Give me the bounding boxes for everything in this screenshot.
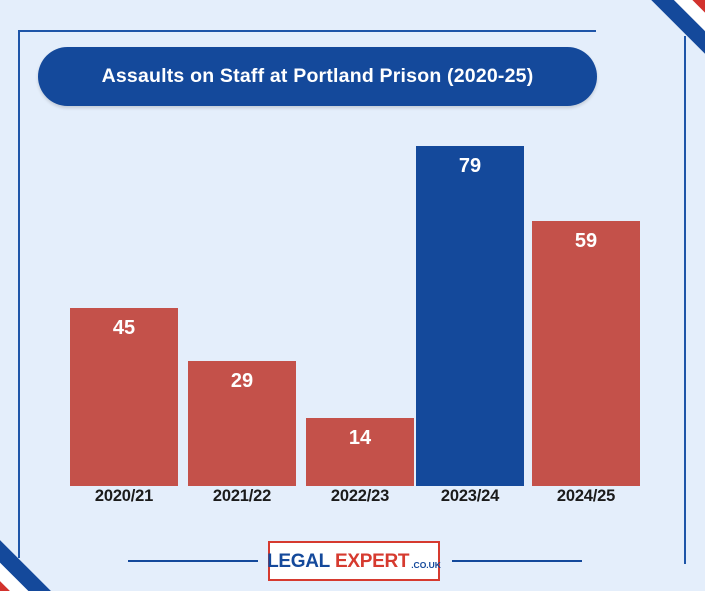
bar-column-3: 79 xyxy=(416,146,524,486)
bar-4: 59 xyxy=(532,221,640,486)
bar-column-4: 59 xyxy=(532,221,640,486)
bar-3: 79 xyxy=(416,146,524,486)
bar-chart-plot-area: 45 29 14 79 59 xyxy=(60,128,650,486)
ribbon-stripe-red xyxy=(607,0,705,98)
footer-divider-left xyxy=(128,560,258,562)
brand-logo[interactable]: LEGAL EXPERT .CO.UK xyxy=(268,541,440,581)
x-axis-labels: 2020/21 2021/22 2022/23 2023/24 2024/25 xyxy=(60,487,650,517)
x-tick-label-1: 2021/22 xyxy=(177,487,307,506)
x-tick-label-0: 2020/21 xyxy=(59,487,189,506)
ribbon-stripe-blue-2 xyxy=(0,515,76,591)
bar-1: 29 xyxy=(188,361,296,486)
frame-line-left xyxy=(18,30,20,558)
ribbon-stripe-blue xyxy=(627,0,705,78)
ribbon-stripe-blue-2 xyxy=(586,0,705,119)
page-title: Assaults on Staff at Portland Prison (20… xyxy=(102,65,534,88)
bar-column-1: 29 xyxy=(188,361,296,486)
infographic-canvas: Assaults on Staff at Portland Prison (20… xyxy=(0,0,705,591)
bar-value-label-4: 59 xyxy=(532,230,640,253)
bar-0: 45 xyxy=(70,308,178,486)
x-tick-label-3: 2023/24 xyxy=(405,487,535,506)
brand-logo-expert-text: EXPERT xyxy=(335,552,409,571)
chart-title-banner: Assaults on Staff at Portland Prison (20… xyxy=(38,47,597,106)
bar-value-label-2: 14 xyxy=(306,427,414,450)
bar-value-label-0: 45 xyxy=(70,317,178,340)
x-tick-label-4: 2024/25 xyxy=(521,487,651,506)
bar-value-label-1: 29 xyxy=(188,370,296,393)
ribbon-stripe-white-2 xyxy=(598,0,705,107)
footer-divider-right xyxy=(452,560,582,562)
ribbon-stripe-white-2 xyxy=(0,505,86,591)
brand-logo-domain-text: .CO.UK xyxy=(411,561,441,570)
frame-line-right xyxy=(684,36,686,564)
brand-logo-inner: LEGAL EXPERT .CO.UK xyxy=(267,552,441,571)
bar-value-label-3: 79 xyxy=(416,155,524,178)
bar-2: 14 xyxy=(306,418,414,486)
brand-logo-legal-text: LEGAL xyxy=(267,552,330,571)
bar-column-0: 45 xyxy=(70,308,178,486)
frame-line-top xyxy=(18,30,596,32)
bar-column-2: 14 xyxy=(306,418,414,486)
ribbon-stripe-white xyxy=(618,0,705,87)
